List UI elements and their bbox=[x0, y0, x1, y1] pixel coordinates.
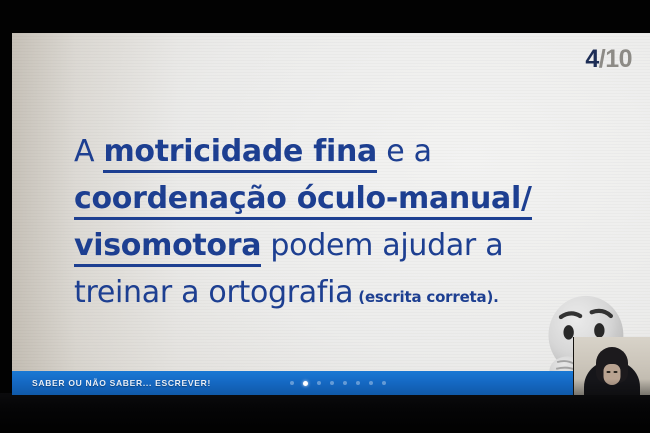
photographed-screen: 4/10 A motricidade fina e a coordenação … bbox=[0, 0, 650, 433]
webcam-person-hair bbox=[596, 347, 628, 383]
page-counter-current: 4 bbox=[585, 45, 598, 73]
webcam-person-eye-left bbox=[607, 371, 611, 373]
webcam-vignette bbox=[574, 379, 650, 395]
line1-part-3: e a bbox=[377, 134, 432, 169]
progress-dot[interactable] bbox=[382, 381, 386, 385]
room-darkness-bottom bbox=[0, 393, 650, 433]
progress-dot[interactable] bbox=[317, 381, 321, 385]
slide-text-line-2: coordenação óculo-manual/ bbox=[74, 175, 574, 222]
progress-dot[interactable] bbox=[290, 381, 294, 385]
line1-part-1: A bbox=[74, 134, 103, 169]
line2-part-1-highlight: coordenação óculo-manual/ bbox=[74, 181, 532, 220]
progress-dot[interactable] bbox=[343, 381, 347, 385]
progress-dot[interactable] bbox=[356, 381, 360, 385]
slide-footer-title: SABER OU NÃO SABER... ESCREVER! bbox=[32, 378, 211, 388]
webcam-person-eye-right bbox=[614, 371, 618, 373]
line3-part-2: podem ajudar a bbox=[261, 228, 503, 263]
line3-part-1-highlight: visomotora bbox=[74, 228, 261, 267]
page-counter-total: 10 bbox=[605, 45, 632, 73]
slide-text-line-4: treinar a ortografia (escrita correta). bbox=[74, 269, 574, 321]
line1-part-2-highlight: motricidade fina bbox=[103, 134, 376, 173]
progress-dot-active[interactable] bbox=[303, 381, 308, 386]
slide-footer-bar: SABER OU NÃO SABER... ESCREVER! bbox=[12, 371, 650, 395]
slide-progress-dots[interactable] bbox=[290, 381, 386, 386]
progress-dot[interactable] bbox=[369, 381, 373, 385]
slide-text-line-1: A motricidade fina e a bbox=[74, 128, 574, 175]
line4-part-1: treinar a ortografia bbox=[74, 275, 353, 310]
presentation-slide: 4/10 A motricidade fina e a coordenação … bbox=[12, 33, 650, 395]
page-counter: 4/10 bbox=[585, 45, 632, 74]
line4-part-2-note: (escrita correta). bbox=[353, 288, 498, 306]
progress-dot[interactable] bbox=[330, 381, 334, 385]
slide-text-line-3: visomotora podem ajudar a bbox=[74, 222, 574, 269]
slide-body-text: A motricidade fina e a coordenação óculo… bbox=[74, 128, 574, 321]
presenter-webcam-overlay[interactable] bbox=[573, 337, 650, 395]
